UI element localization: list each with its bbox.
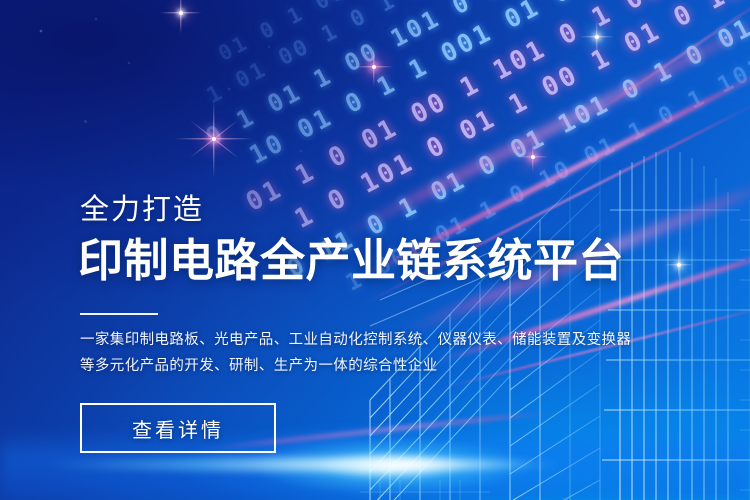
hero-description: 一家集印制电路板、光电产品、工业自动化控制系统、仪器仪表、储能装置及变换器 等多… <box>80 327 600 379</box>
hero-headline: 印制电路全产业链系统平台 <box>78 238 624 283</box>
hero-divider <box>80 313 158 315</box>
hero-banner: 01 0 1 00 1 01 0 1101 01 00 1 0 1 01 00 … <box>0 0 750 500</box>
hero-eyebrow: 全力打造 <box>80 196 204 225</box>
hero-content: 全力打造 印制电路全产业链系统平台 一家集印制电路板、光电产品、工业自动化控制系… <box>80 0 680 500</box>
hero-description-line-2: 等多元化产品的开发、研制、生产为一体的综合性企业 <box>80 353 600 379</box>
hero-description-line-1: 一家集印制电路板、光电产品、工业自动化控制系统、仪器仪表、储能装置及变换器 <box>80 327 600 353</box>
view-details-button[interactable]: 查看详情 <box>80 403 276 453</box>
star-dot <box>40 30 42 32</box>
